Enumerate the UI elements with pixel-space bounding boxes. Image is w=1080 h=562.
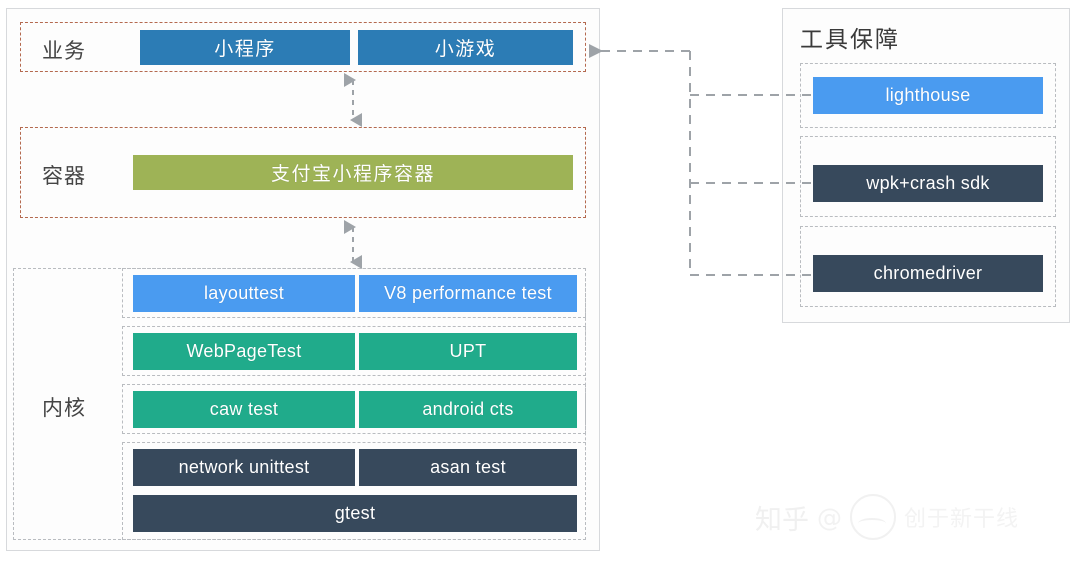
node-caw-test: caw test <box>133 391 355 428</box>
node-lighthouse: lighthouse <box>813 77 1043 114</box>
node-upt: UPT <box>359 333 577 370</box>
node-wpk-crash-sdk: wpk+crash sdk <box>813 165 1043 202</box>
watermark: 知乎 @ 创于新干线 <box>755 492 1055 542</box>
tools-panel-title: 工具保障 <box>800 20 900 54</box>
watermark-brand: 创于新干线 <box>904 501 1019 533</box>
node-asan-test: asan test <box>359 449 577 486</box>
node-mini-game: 小游戏 <box>358 30 573 65</box>
layer-label-container: 容器 <box>42 160 86 190</box>
node-mini-program: 小程序 <box>140 30 350 65</box>
node-v8-performance-test: V8 performance test <box>359 275 577 312</box>
node-gtest: gtest <box>133 495 577 532</box>
watermark-logo-icon <box>850 494 896 540</box>
node-chromedriver: chromedriver <box>813 255 1043 292</box>
node-android-cts: android cts <box>359 391 577 428</box>
connector-tools-bus <box>600 51 812 275</box>
layer-label-business: 业务 <box>42 35 86 65</box>
node-layouttest: layouttest <box>133 275 355 312</box>
node-alipay-mini-container: 支付宝小程序容器 <box>133 155 573 190</box>
watermark-at-symbol: @ <box>817 503 842 532</box>
node-webpagetest: WebPageTest <box>133 333 355 370</box>
node-network-unittest: network unittest <box>133 449 355 486</box>
layer-label-kernel: 内核 <box>42 392 86 422</box>
watermark-site: 知乎 <box>755 498 809 537</box>
